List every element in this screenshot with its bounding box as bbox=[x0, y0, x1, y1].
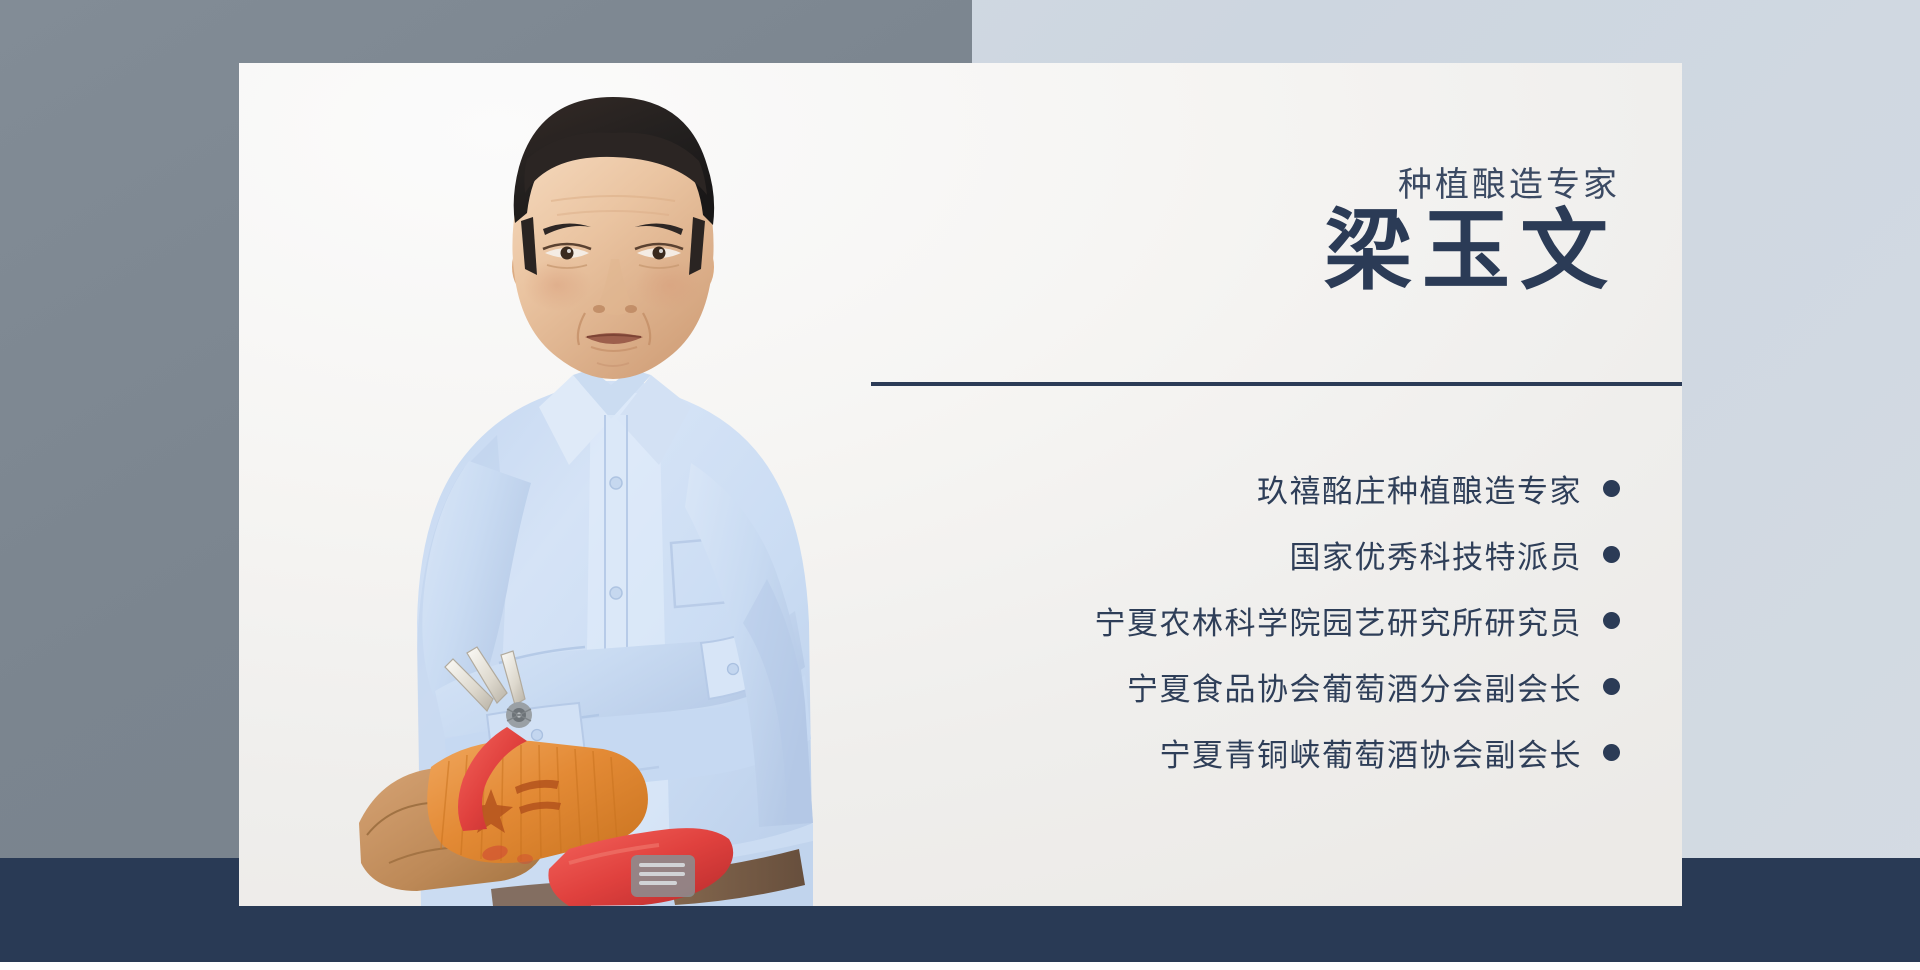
list-item: 宁夏青铜峡葡萄酒协会副会长 bbox=[960, 725, 1620, 779]
profile-card: 种植酿造专家 梁玉文 玖禧酩庄种植酿造专家 国家优秀科技特派员 宁夏农林科学院园… bbox=[239, 63, 1682, 906]
credential-label: 宁夏青铜峡葡萄酒协会副会长 bbox=[1160, 730, 1583, 775]
list-item: 玖禧酩庄种植酿造专家 bbox=[960, 461, 1620, 515]
list-item: 宁夏食品协会葡萄酒分会副会长 bbox=[960, 659, 1620, 713]
divider-line bbox=[871, 382, 1682, 386]
page-title: 梁玉文 bbox=[1324, 201, 1618, 305]
text-column: 种植酿造专家 梁玉文 玖禧酩庄种植酿造专家 国家优秀科技特派员 宁夏农林科学院园… bbox=[939, 63, 1682, 906]
bullet-dot-icon bbox=[1603, 480, 1620, 497]
bullet-dot-icon bbox=[1603, 546, 1620, 563]
credential-label: 宁夏农林科学院园艺研究所研究员 bbox=[1095, 598, 1583, 643]
role-subtitle: 种植酿造专家 bbox=[1398, 157, 1620, 206]
credential-list: 玖禧酩庄种植酿造专家 国家优秀科技特派员 宁夏农林科学院园艺研究所研究员 宁夏食… bbox=[960, 461, 1620, 779]
credential-label: 玖禧酩庄种植酿造专家 bbox=[1257, 466, 1582, 511]
bullet-dot-icon bbox=[1603, 678, 1620, 695]
portrait-photo bbox=[239, 63, 879, 906]
credential-label: 宁夏食品协会葡萄酒分会副会长 bbox=[1127, 664, 1582, 709]
credential-label: 国家优秀科技特派员 bbox=[1290, 532, 1583, 577]
list-item: 宁夏农林科学院园艺研究所研究员 bbox=[960, 593, 1620, 647]
bullet-dot-icon bbox=[1603, 612, 1620, 629]
list-item: 国家优秀科技特派员 bbox=[960, 527, 1620, 581]
background-white-strip bbox=[0, 962, 1920, 970]
bullet-dot-icon bbox=[1603, 744, 1620, 761]
background-navy-bar-right bbox=[1682, 858, 1920, 970]
poster-stage: 种植酿造专家 梁玉文 玖禧酩庄种植酿造专家 国家优秀科技特派员 宁夏农林科学院园… bbox=[0, 0, 1920, 970]
